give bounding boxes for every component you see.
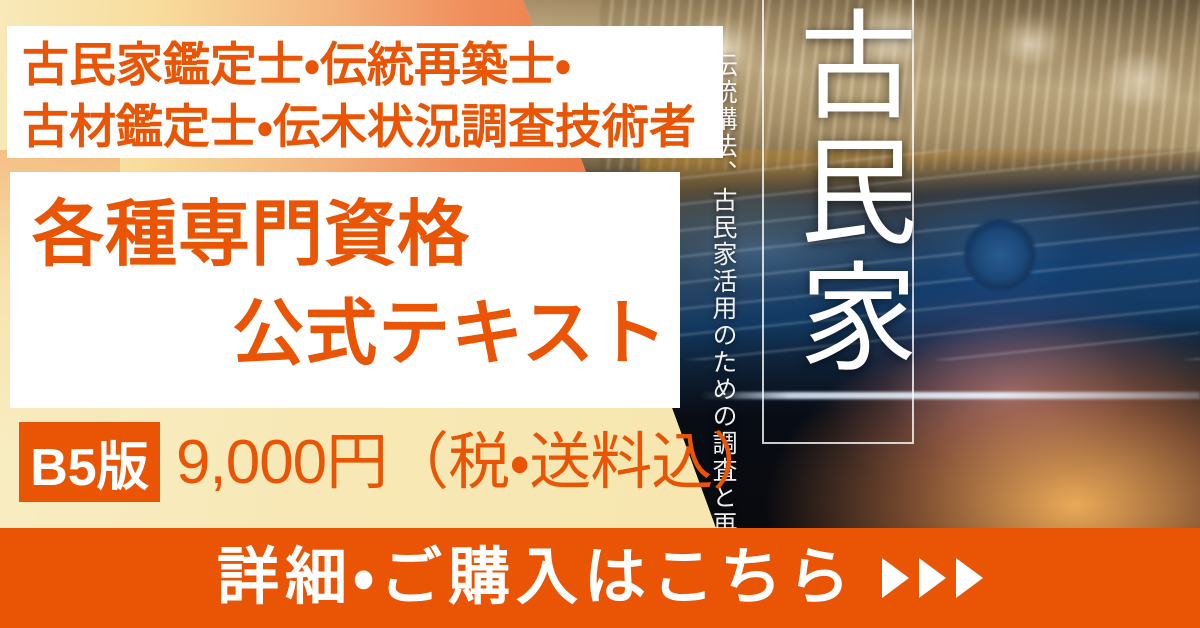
promo-banner[interactable]: 伝統構法、古民家活用のための調査と再生の 古民家 古民家鑑定士・伝統再築士・ 古… <box>0 0 1200 628</box>
headline-line-2: 古材鑑定士・伝木状況調査技術者 <box>22 96 722 158</box>
headline-line-1: 古民家鑑定士・伝統再築士・ <box>22 34 722 96</box>
price-label: 9,000円（税・送料込） <box>176 425 773 501</box>
cta-arrows <box>882 558 983 598</box>
cta-label: 詳細・ご購入はこちら <box>217 547 856 609</box>
play-triangle-icon <box>882 558 909 598</box>
book-cover-title: 古民家 <box>790 4 910 382</box>
subhead-line-1: 各種専門資格 <box>26 186 676 285</box>
cta-bar[interactable]: 詳細・ご購入はこちら <box>0 528 1200 628</box>
play-triangle-icon <box>919 558 946 598</box>
subhead-line-2: 公式テキスト <box>26 285 676 384</box>
product-subhead: 各種専門資格 公式テキスト <box>26 186 676 385</box>
qualification-headline: 古民家鑑定士・伝統再築士・ 古材鑑定士・伝木状況調査技術者 <box>22 34 722 158</box>
play-triangle-icon <box>956 558 983 598</box>
format-badge: B5版 <box>19 422 160 502</box>
